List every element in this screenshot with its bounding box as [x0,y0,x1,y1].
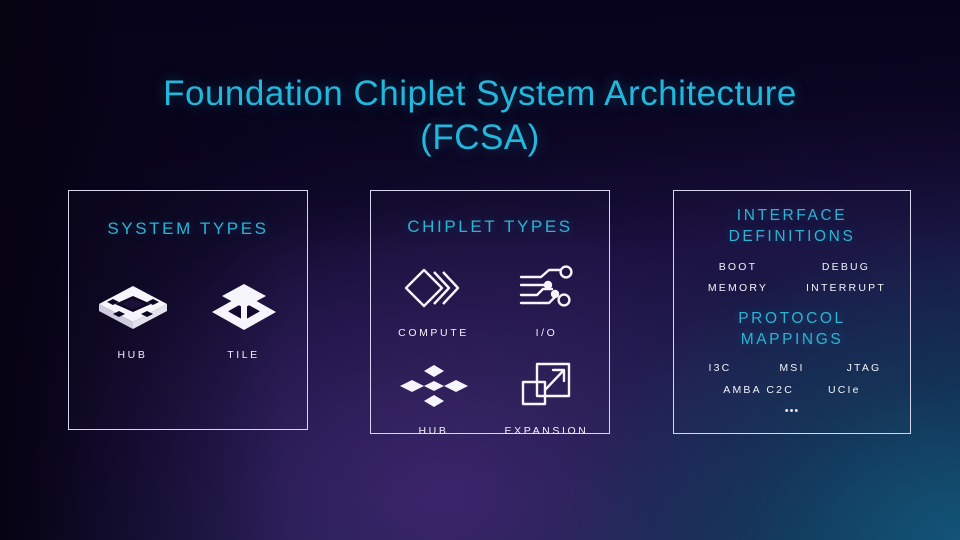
circuit-traces-icon [519,259,575,317]
isometric-chip-icon [97,279,169,337]
panel-protocol-mappings-heading: PROTOCOL MAPPINGS [674,308,910,350]
protocol-item-ucie[interactable]: UCIe [828,384,861,396]
panel-interface-definitions-heading: INTERFACE DEFINITIONS [674,205,910,247]
system-type-hub[interactable]: HUB [97,279,169,361]
overlapping-squares-arrow-icon [520,357,572,415]
interface-item-debug[interactable]: DEBUG [822,261,870,273]
chiplet-type-compute[interactable]: COMPUTE [398,259,469,339]
system-type-tile-label: TILE [227,349,260,361]
panel-chiplet-types-heading: CHIPLET TYPES [371,217,609,237]
chiplet-type-hub[interactable]: HUB [400,357,468,437]
protocol-mappings-list: I3C MSI JTAG AMBA C2C UCIe ••• [674,362,910,414]
chiplet-type-expansion-label: EXPANSION [505,425,589,437]
protocol-heading-line-2: MAPPINGS [741,331,844,348]
protocol-mappings-row-2: AMBA C2C UCIe [723,384,860,396]
chiplet-type-compute-label: COMPUTE [398,327,469,339]
system-type-tile[interactable]: TILE [208,279,280,361]
chiplet-type-expansion[interactable]: EXPANSION [505,357,589,437]
panel-interface-definitions: INTERFACE DEFINITIONS BOOT DEBUG MEMORY … [673,190,911,434]
system-type-hub-label: HUB [118,349,148,361]
interface-item-memory[interactable]: MEMORY [708,282,768,294]
chiplet-type-io[interactable]: I/O [519,259,575,339]
protocol-item-msi[interactable]: MSI [779,362,804,374]
protocol-heading-line-1: PROTOCOL [738,310,846,327]
slide-title-line-1: Foundation Chiplet System Architecture [163,74,797,113]
slide-title: Foundation Chiplet System Architecture (… [0,72,960,160]
interface-definitions-list: BOOT DEBUG MEMORY INTERRUPT [674,261,910,294]
slide-title-line-2: (FCSA) [0,116,960,160]
interface-heading-line-1: INTERFACE [737,207,847,224]
protocol-item-jtag[interactable]: JTAG [847,362,882,374]
chiplet-type-io-label: I/O [536,327,558,339]
interface-item-interrupt[interactable]: INTERRUPT [806,282,886,294]
protocol-mappings-ellipsis: ••• [785,408,800,414]
interface-item-boot[interactable]: BOOT [719,261,758,273]
panel-system-types-heading: SYSTEM TYPES [69,219,307,239]
panel-chiplet-types: CHIPLET TYPES COMPUTE [370,190,610,434]
protocol-item-amba-c2c[interactable]: AMBA C2C [723,384,794,396]
panel-system-types: SYSTEM TYPES [68,190,308,430]
system-types-icon-grid: HUB TILE [69,279,307,361]
interface-heading-line-2: DEFINITIONS [729,228,856,245]
nested-diamonds-icon [404,259,462,317]
chiplet-type-hub-label: HUB [419,425,449,437]
diamond-cluster-icon [400,357,468,415]
protocol-item-i3c[interactable]: I3C [709,362,732,374]
chiplet-types-icon-grid: COMPUTE [371,259,609,437]
isometric-stacked-tile-icon [208,279,280,337]
slide-canvas: Foundation Chiplet System Architecture (… [0,0,960,540]
